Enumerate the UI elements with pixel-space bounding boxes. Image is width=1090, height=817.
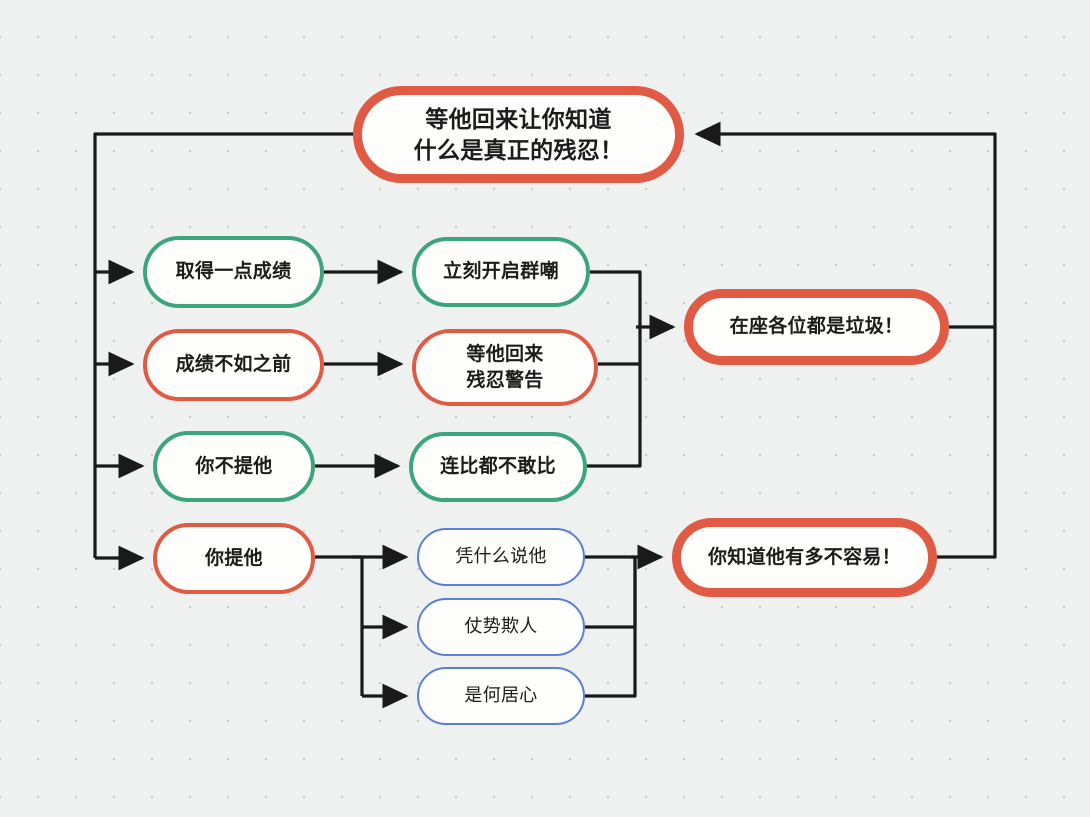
flowchart-canvas: 等他回来让你知道 什么是真正的残忍！ 取得一点成绩 成绩不如之前 你不提他 你提… bbox=[0, 0, 1090, 817]
node-label-line: 取得一点成绩 bbox=[176, 259, 292, 284]
node-you-mention[interactable]: 你提他 bbox=[153, 523, 315, 594]
edge-dare-not-compare-to-everyone-is-trash bbox=[587, 327, 640, 466]
node-top-warning[interactable]: 等他回来让你知道 什么是真正的残忍！ bbox=[353, 86, 684, 183]
node-worse-than-before[interactable]: 成绩不如之前 bbox=[143, 329, 324, 401]
edge-you-mention-to-why-say-him bbox=[315, 557, 362, 696]
node-label-line: 仗势欺人 bbox=[464, 615, 537, 639]
node-label-line: 你不提他 bbox=[195, 454, 272, 479]
node-cruel-warning[interactable]: 等他回来 残忍警告 bbox=[412, 329, 598, 406]
node-label-line: 你提他 bbox=[205, 546, 263, 571]
node-what-intention[interactable]: 是何居心 bbox=[417, 667, 585, 725]
node-label-line: 成绩不如之前 bbox=[176, 352, 292, 377]
node-label-line: 什么是真正的残忍！ bbox=[414, 135, 624, 165]
node-you-dont-mention[interactable]: 你不提他 bbox=[153, 431, 315, 502]
node-everyone-is-trash[interactable]: 在座各位都是垃圾！ bbox=[684, 289, 949, 365]
node-bully-with-power[interactable]: 仗势欺人 bbox=[417, 598, 585, 656]
edge-he-has-it-hard-to-top-warning bbox=[937, 327, 995, 557]
node-label-line: 你知道他有多不容易！ bbox=[708, 545, 901, 570]
node-label-line: 连比都不敢比 bbox=[440, 454, 556, 479]
node-small-achievement[interactable]: 取得一点成绩 bbox=[143, 236, 324, 308]
node-label-line: 残忍警告 bbox=[466, 368, 543, 393]
node-label-line: 等他回来让你知道 bbox=[425, 104, 611, 134]
node-label-line: 在座各位都是垃圾！ bbox=[730, 314, 904, 339]
node-label-line: 凭什么说他 bbox=[455, 545, 547, 569]
node-label-line: 立刻开启群嘲 bbox=[443, 259, 559, 284]
node-start-mockery[interactable]: 立刻开启群嘲 bbox=[412, 237, 590, 307]
edge-start-mockery-to-everyone-is-trash bbox=[590, 272, 640, 327]
node-label-line: 是何居心 bbox=[464, 684, 537, 708]
node-dare-not-compare[interactable]: 连比都不敢比 bbox=[409, 432, 587, 502]
node-he-has-it-hard[interactable]: 你知道他有多不容易！ bbox=[672, 518, 937, 597]
node-label-line: 等他回来 bbox=[466, 342, 543, 367]
edge-bully-with-power-to-he-has-it-hard bbox=[585, 557, 635, 627]
node-why-say-him[interactable]: 凭什么说他 bbox=[417, 528, 585, 586]
